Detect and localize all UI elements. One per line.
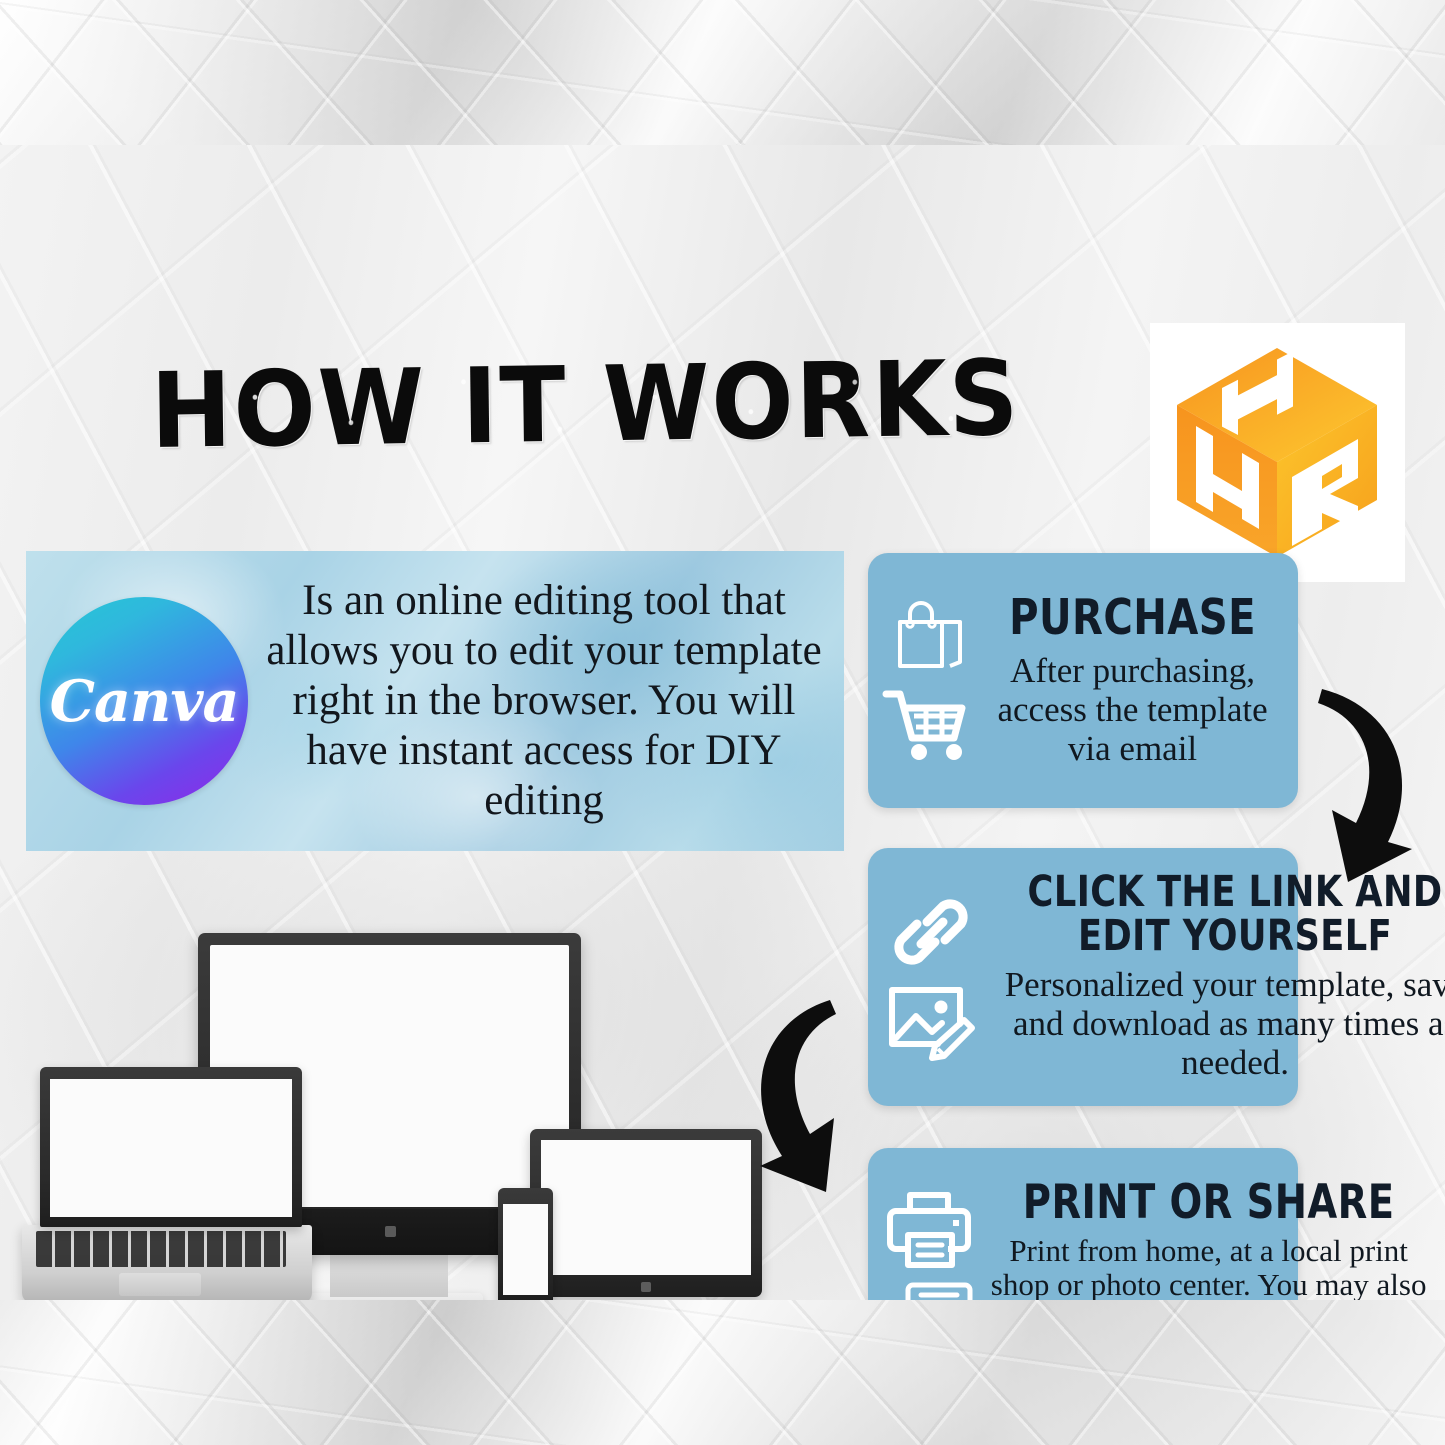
click-edit-title: CLICK THE LINK AND EDIT YOURSELF <box>1028 871 1443 959</box>
laptop-base <box>22 1225 312 1300</box>
purchase-icons <box>878 567 982 794</box>
link-chain-icon <box>885 892 975 972</box>
click-edit-title-line2: EDIT YOURSELF <box>1028 915 1443 959</box>
devices-illustration <box>30 915 775 1300</box>
shopping-bag-icon <box>886 598 974 678</box>
shopping-cart-icon <box>882 686 978 764</box>
arrow-purchase-to-click-icon <box>1300 677 1430 892</box>
print-share-icons <box>878 1162 982 1300</box>
laptop <box>40 1067 302 1227</box>
purchase-body: PURCHASE After purchasing, access the te… <box>982 567 1283 794</box>
page-title-text: HOW IT WORKS <box>150 337 1021 472</box>
purchase-title: PURCHASE <box>1009 593 1256 643</box>
laptop-keyboard <box>36 1231 286 1267</box>
canva-logo-icon: Canva <box>40 597 248 805</box>
print-share-body: PRINT OR SHARE Print from home, at a loc… <box>982 1162 1435 1300</box>
hrg-cube-logo-icon <box>1170 343 1385 563</box>
tablet <box>530 1129 762 1297</box>
purchase-description: After purchasing, access the template vi… <box>982 651 1283 769</box>
poster-content-area: HOW IT WORKS <box>0 145 1445 1300</box>
smartphone <box>498 1188 553 1300</box>
canva-description: Is an online editing tool that allows yo… <box>248 576 844 825</box>
print-share-description: Print from home, at a local print shop o… <box>982 1234 1435 1300</box>
click-edit-icons <box>878 862 982 1092</box>
step-card-print-share[interactable]: PRINT OR SHARE Print from home, at a loc… <box>868 1148 1298 1300</box>
poster-root: HOW IT WORKS <box>0 0 1445 1445</box>
image-edit-icon <box>884 980 976 1062</box>
canva-logo-text: Canva <box>50 668 239 735</box>
click-edit-body: CLICK THE LINK AND EDIT YOURSELF Persona… <box>982 862 1445 1092</box>
brand-logo-box <box>1150 323 1405 582</box>
laptop-trackpad <box>119 1273 201 1296</box>
printer-icon <box>886 1189 974 1271</box>
page-title: HOW IT WORKS <box>150 337 1021 472</box>
click-edit-description: Personalized your template, save and dow… <box>982 965 1445 1083</box>
step-card-purchase[interactable]: PURCHASE After purchasing, access the te… <box>868 553 1298 808</box>
print-share-title: PRINT OR SHARE <box>1023 1179 1395 1227</box>
arrow-click-to-print-icon <box>752 990 882 1202</box>
step-card-click-edit[interactable]: CLICK THE LINK AND EDIT YOURSELF Persona… <box>868 848 1298 1106</box>
monitor-neck <box>330 1253 448 1297</box>
click-edit-title-line1: CLICK THE LINK AND <box>1028 871 1443 915</box>
chat-bubbles-icon <box>883 1279 977 1301</box>
canva-info-panel: Canva Is an online editing tool that all… <box>26 551 844 851</box>
